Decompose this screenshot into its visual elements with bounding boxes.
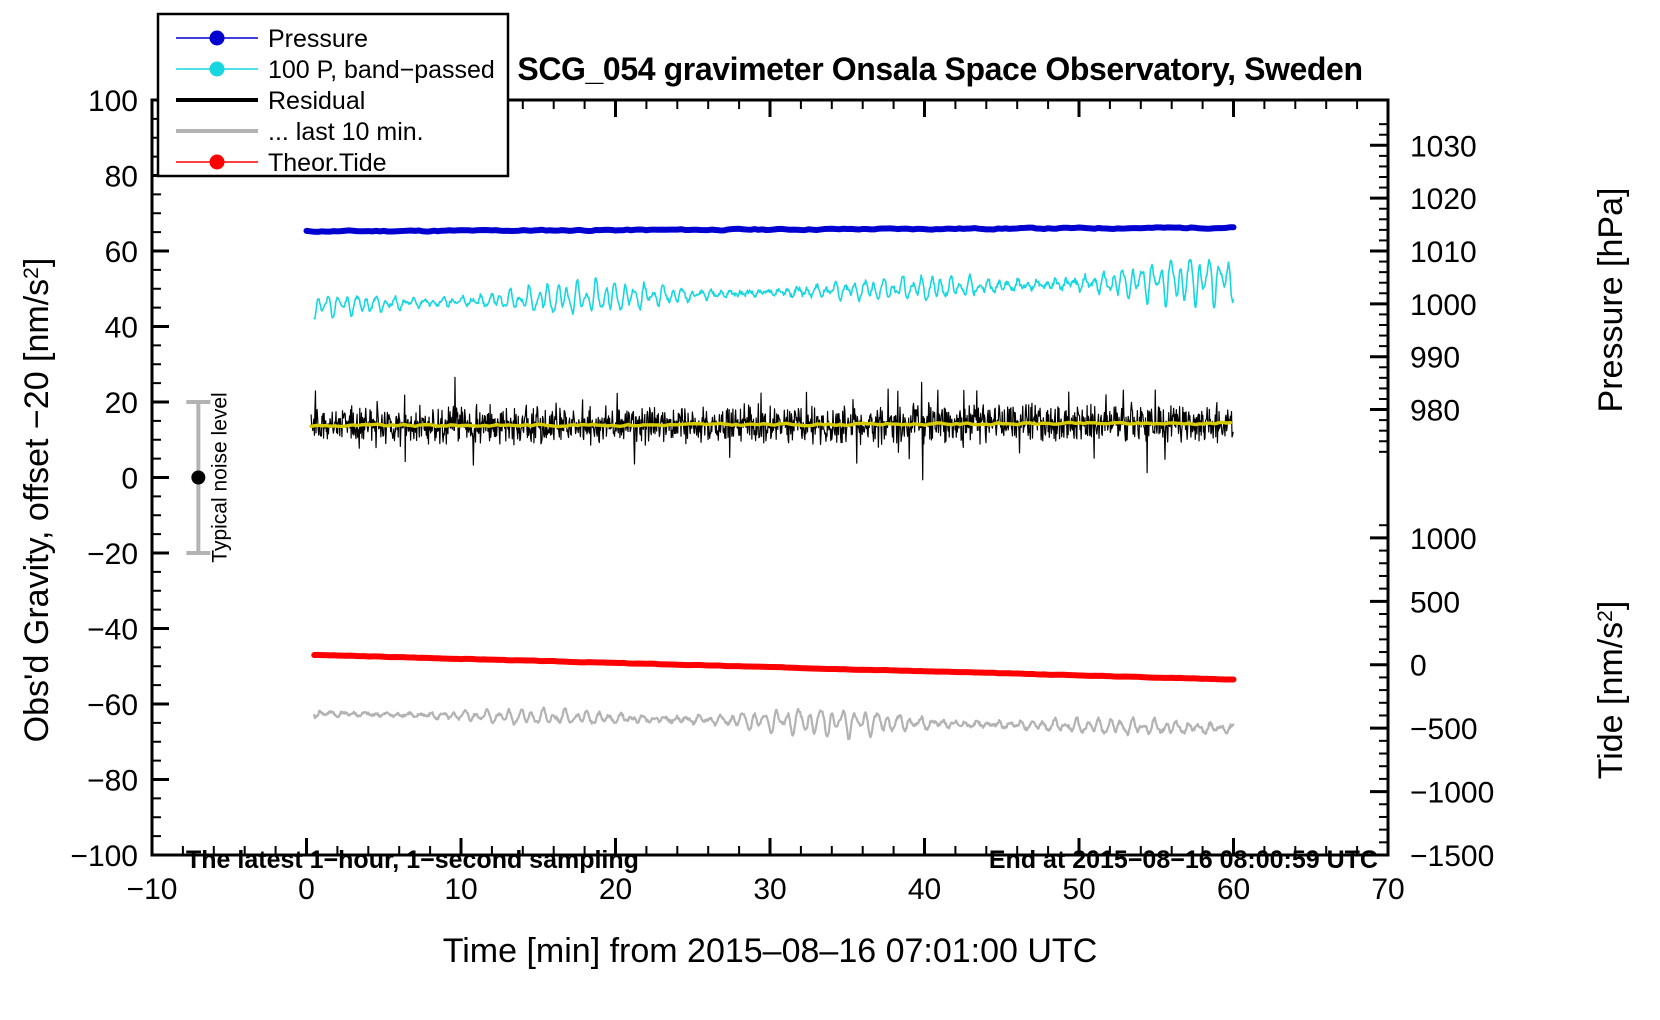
x-tick-label: 40 — [908, 873, 941, 906]
pressure-axis-title-text: Pressure [hPa] — [1592, 188, 1630, 413]
pressure-axis-title: Pressure [hPa] — [1592, 188, 1630, 413]
y-axis-title-main: Obs'd Gravity, offset −20 [nm/s — [18, 279, 56, 742]
x-tick-label: 60 — [1217, 873, 1250, 906]
annotation-bottom-right: End at 2015−08−16 08:00:59 UTC — [989, 846, 1378, 874]
legend-label: Residual — [268, 87, 365, 115]
x-tick-label: 50 — [1062, 873, 1095, 906]
y-tick-label: −20 — [87, 538, 138, 571]
pressure-tick-label: 980 — [1410, 395, 1460, 428]
y-tick-label: 40 — [105, 312, 138, 345]
x-tick-label: 10 — [444, 873, 477, 906]
legend: Pressure100 P, band−passedResidual... la… — [158, 14, 508, 177]
legend-swatch-marker — [210, 62, 225, 77]
y-tick-label: 60 — [105, 236, 138, 269]
annotation-bottom-left: The latest 1−hour, 1−second sampling — [186, 846, 639, 874]
x-tick-label: 0 — [298, 873, 315, 906]
y-tick-label: −80 — [87, 765, 138, 798]
pressure-tick-label: 1030 — [1410, 130, 1477, 163]
chart-root: −10010203040506070 −100−80−60−40−2002040… — [0, 0, 1660, 1020]
gravimeter-time-series-chart: −10010203040506070 −100−80−60−40−2002040… — [0, 0, 1660, 1020]
tide-axis-title: Tide [nm/s2] — [1592, 601, 1630, 780]
tide-tick-label: −1500 — [1410, 840, 1494, 873]
y-tick-label: 0 — [121, 463, 138, 496]
pressure-tick-label: 1000 — [1410, 289, 1477, 322]
y-tick-label: 100 — [88, 85, 138, 118]
y-axis-title: Obs'd Gravity, offset −20 [nm/s2] — [18, 258, 56, 743]
x-tick-label: 20 — [599, 873, 632, 906]
svg-text:Obs'd Gravity, offset −20 [nm/: Obs'd Gravity, offset −20 [nm/s2] — [18, 258, 56, 743]
x-tick-label: 30 — [753, 873, 786, 906]
svg-text:Tide [nm/s2]: Tide [nm/s2] — [1592, 601, 1630, 780]
y-tick-label: −100 — [70, 840, 138, 873]
legend-label: Pressure — [268, 25, 368, 53]
pressure-tick-label: 990 — [1410, 342, 1460, 375]
tide-tick-label: −1000 — [1410, 777, 1494, 810]
legend-label: Theor.Tide — [268, 149, 387, 177]
legend-swatch-marker — [210, 31, 225, 46]
chart-title: SCG_054 gravimeter Onsala Space Observat… — [517, 51, 1362, 87]
tide-axis-title-tail: ] — [1592, 601, 1630, 610]
x-tick-label: −10 — [127, 873, 178, 906]
noise-center-dot — [191, 471, 205, 485]
y-axis-title-superscript: 2 — [20, 267, 43, 279]
tide-tick-label: −500 — [1410, 713, 1478, 746]
tide-tick-label: 1000 — [1410, 523, 1477, 556]
y-tick-label: 80 — [105, 161, 138, 194]
series-line — [307, 227, 1234, 232]
legend-label: ... last 10 min. — [268, 118, 424, 146]
noise-label: Typical noise level — [208, 392, 231, 562]
tide-tick-label: 500 — [1410, 586, 1460, 619]
pressure-tick-label: 1020 — [1410, 183, 1477, 216]
legend-label: 100 P, band−passed — [268, 56, 495, 84]
y-axis-title-tail: ] — [18, 258, 56, 267]
legend-swatch-marker — [210, 155, 225, 170]
y-tick-label: −40 — [87, 614, 138, 647]
tide-axis-title-superscript: 2 — [1594, 610, 1617, 622]
y-tick-label: 20 — [105, 387, 138, 420]
tide-axis-title-main: Tide [nm/s — [1592, 622, 1630, 779]
pressure-tick-label: 1010 — [1410, 236, 1477, 269]
x-axis-title: Time [min] from 2015–08–16 07:01:00 UTC — [443, 932, 1098, 970]
y-tick-label: −60 — [87, 689, 138, 722]
tide-tick-label: 0 — [1410, 650, 1427, 683]
x-tick-label: 70 — [1371, 873, 1404, 906]
